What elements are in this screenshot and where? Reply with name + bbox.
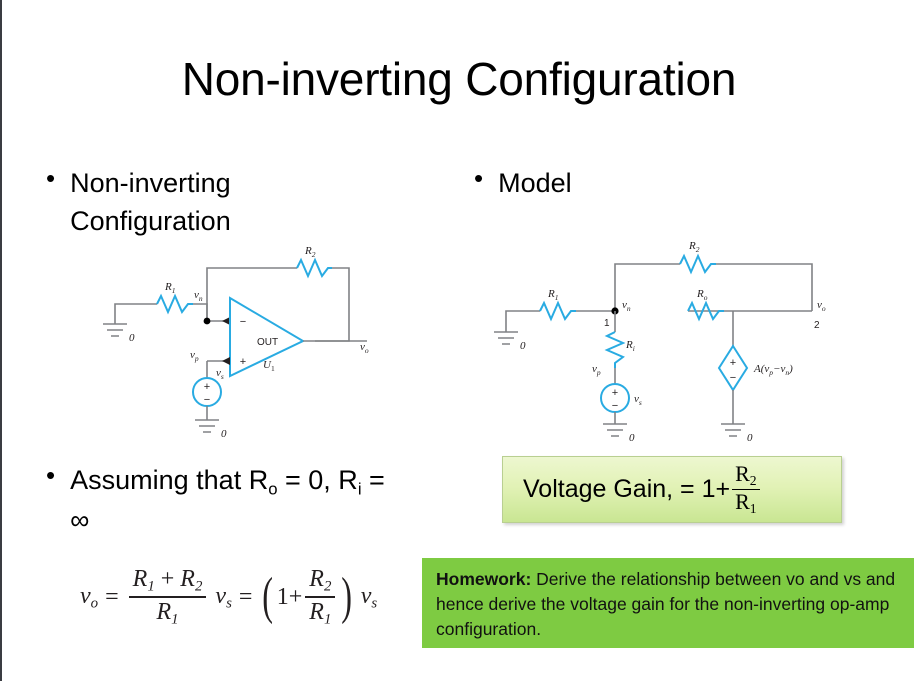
voltage-gain-content: Voltage Gain, = 1+ R2 R1 xyxy=(503,462,760,517)
model-ground-symbol-left: 0 xyxy=(494,332,526,352)
frac2-den-sub: 1 xyxy=(324,612,331,628)
bullet-left-1-line1: Non-inverting xyxy=(70,168,231,198)
homework-callout-box: Homework: Derive the relationship betwee… xyxy=(422,558,914,648)
model-resistor-r2-label: R2 xyxy=(688,240,700,254)
bullet-right-1-text: Model xyxy=(498,164,572,202)
model-source-plus-sign: + xyxy=(612,387,618,399)
homework-text: Homework: Derive the relationship betwee… xyxy=(436,567,902,643)
equation-equals-1: = xyxy=(105,584,119,611)
frac1-den-r: R xyxy=(156,599,171,625)
model-source-minus-sign: − xyxy=(612,400,618,412)
model-label-vo: vo xyxy=(817,299,826,313)
bullet-assumptions: • Assuming that Ro = 0, Ri = ∞ xyxy=(46,461,396,539)
model-label-vn: vn xyxy=(622,299,631,313)
slide-canvas: Non-inverting Configuration • Non-invert… xyxy=(0,0,914,681)
feedback-wire-left xyxy=(207,268,297,321)
voltage-gain-label: Voltage Gain, = 1+ xyxy=(523,475,730,504)
gain-num-r: R xyxy=(735,461,750,486)
bullet-left-1-text: Non-inverting Configuration xyxy=(70,164,231,241)
equation-lhs-v: v xyxy=(80,583,91,609)
frac2-num-sub: 2 xyxy=(324,578,331,594)
equation-frac2-numerator: R2 xyxy=(305,566,335,596)
voltage-output-equation: vo = R1 + R2 R1 vs = ( 1+ R2 R1 ) vs xyxy=(80,566,377,629)
opamp-designator-u1: U1 xyxy=(263,359,275,373)
equation-fraction-1: R1 + R2 R1 xyxy=(129,566,207,629)
source-plus-sign: + xyxy=(204,381,210,393)
model-resistor-ri-label: Ri xyxy=(625,339,635,353)
equation-vs2-sub: s xyxy=(371,595,377,611)
model-feedback-right-wire xyxy=(716,264,812,311)
frac1-den-sub: 1 xyxy=(171,612,178,628)
equation-one-plus: 1+ xyxy=(277,584,303,611)
bullet-marker-icon: • xyxy=(46,164,55,193)
resistor-r2-label: R2 xyxy=(304,245,316,259)
gain-num-sub: 2 xyxy=(750,473,757,488)
ground-to-r1-wire xyxy=(115,304,157,324)
equation-vs1-sub: s xyxy=(226,595,232,611)
equation-frac1-numerator: R1 + R2 xyxy=(129,566,207,596)
model-ground-label-left: 0 xyxy=(520,340,526,352)
bullet-left-2-text: Assuming that Ro = 0, Ri = ∞ xyxy=(70,461,396,539)
page-title: Non-inverting Configuration xyxy=(2,52,914,106)
feedback-wire-right xyxy=(315,268,349,341)
model-ground-symbol-source: 0 xyxy=(603,424,635,444)
noninverting-input-sign: + xyxy=(240,356,246,368)
equation-frac2-denominator: R1 xyxy=(305,598,335,628)
bullet-marker-icon: • xyxy=(474,164,483,193)
model-resistor-r2-symbol xyxy=(680,256,716,272)
non-inverting-opamp-schematic: R2 0 vn R1 − + OUT U1 vo xyxy=(97,246,382,446)
gain-frac-numerator: R2 xyxy=(732,462,760,488)
model-ground-to-r1-wire xyxy=(506,311,540,332)
model-ground-symbol-dependent: 0 xyxy=(721,424,753,444)
model-label-vp: vp xyxy=(592,363,601,377)
frac1-r1: R xyxy=(133,566,148,592)
node-dot-vn xyxy=(204,318,211,325)
ground-symbol-left: 0 xyxy=(103,324,135,344)
model-ground-label-source: 0 xyxy=(629,432,635,444)
resistor-r2-symbol xyxy=(297,260,332,276)
voltage-gain-callout-box: Voltage Gain, = 1+ R2 R1 xyxy=(502,456,842,523)
dependent-source-minus-sign: − xyxy=(730,372,736,384)
model-ground-label-dependent: 0 xyxy=(747,432,753,444)
ground-label-left: 0 xyxy=(129,332,135,344)
opamp-small-signal-model-schematic: R2 R1 0 vn 1 Ri vp + − vs xyxy=(484,236,899,441)
equation-paren-close: ) xyxy=(342,581,353,613)
bullet-marker-icon: • xyxy=(46,461,55,490)
model-resistor-ri-symbol xyxy=(607,332,623,368)
opamp-out-label: OUT xyxy=(257,337,278,348)
assume-sub-o: o xyxy=(268,479,277,498)
gain-frac-denominator: R1 xyxy=(732,490,760,516)
model-node-number-2: 2 xyxy=(814,320,820,331)
bullet-left-1-line2: Configuration xyxy=(70,206,231,236)
frac1-r2-sub: 2 xyxy=(195,578,202,594)
equation-equals-2: = xyxy=(239,584,253,611)
source-minus-sign: − xyxy=(204,394,210,406)
inverting-input-sign: − xyxy=(240,316,246,328)
resistor-r1-symbol xyxy=(157,296,193,312)
equation-vs-2: vs xyxy=(361,583,377,612)
ground-label-source-left: 0 xyxy=(221,428,227,440)
gain-den-r: R xyxy=(735,489,750,514)
noninverting-input-arrow-icon xyxy=(222,357,230,365)
dependent-source-label: A(vp−vn) xyxy=(753,363,793,377)
equation-frac1-denominator: R1 xyxy=(152,598,182,628)
model-resistor-r1-symbol xyxy=(540,303,576,319)
frac2-num-r: R xyxy=(309,566,324,592)
equation-vs1-v: v xyxy=(215,583,226,609)
equation-lhs-sub: o xyxy=(91,595,98,611)
model-label-vs: vs xyxy=(634,393,642,407)
ground-symbol-source-left: 0 xyxy=(195,420,227,440)
equation-fraction-2: R2 R1 xyxy=(305,566,335,629)
equation-vs2-v: v xyxy=(361,583,372,609)
assume-mid: = 0, R xyxy=(278,465,358,495)
model-resistor-r1-label: R1 xyxy=(547,288,558,302)
label-vo-left: vo xyxy=(360,341,369,355)
assume-prefix: Assuming that R xyxy=(70,465,268,495)
equation-paren-open: ( xyxy=(263,581,274,613)
frac2-den-r: R xyxy=(309,599,324,625)
resistor-r1-label: R1 xyxy=(164,281,175,295)
bullet-model: • Model xyxy=(474,164,804,202)
equation-lhs: vo xyxy=(80,583,98,612)
gain-den-sub: 1 xyxy=(750,501,757,516)
frac1-r2: R xyxy=(180,566,195,592)
label-vs-left: vs xyxy=(216,367,224,381)
frac1-plus: + xyxy=(161,566,175,592)
model-node-number-1: 1 xyxy=(604,318,610,329)
inverting-input-arrow-icon xyxy=(222,317,230,325)
bullet-non-inverting-configuration: • Non-inverting Configuration xyxy=(46,164,376,241)
homework-label: Homework: xyxy=(436,569,531,589)
model-resistor-ro-label: Ro xyxy=(696,288,708,302)
label-vn-left: vn xyxy=(194,289,203,303)
frac1-r1-sub: 1 xyxy=(147,578,154,594)
equation-vs-1: vs xyxy=(215,583,231,612)
voltage-gain-fraction: R2 R1 xyxy=(732,462,760,517)
dependent-source-plus-sign: + xyxy=(730,357,736,369)
label-vp-left: vp xyxy=(190,349,199,363)
